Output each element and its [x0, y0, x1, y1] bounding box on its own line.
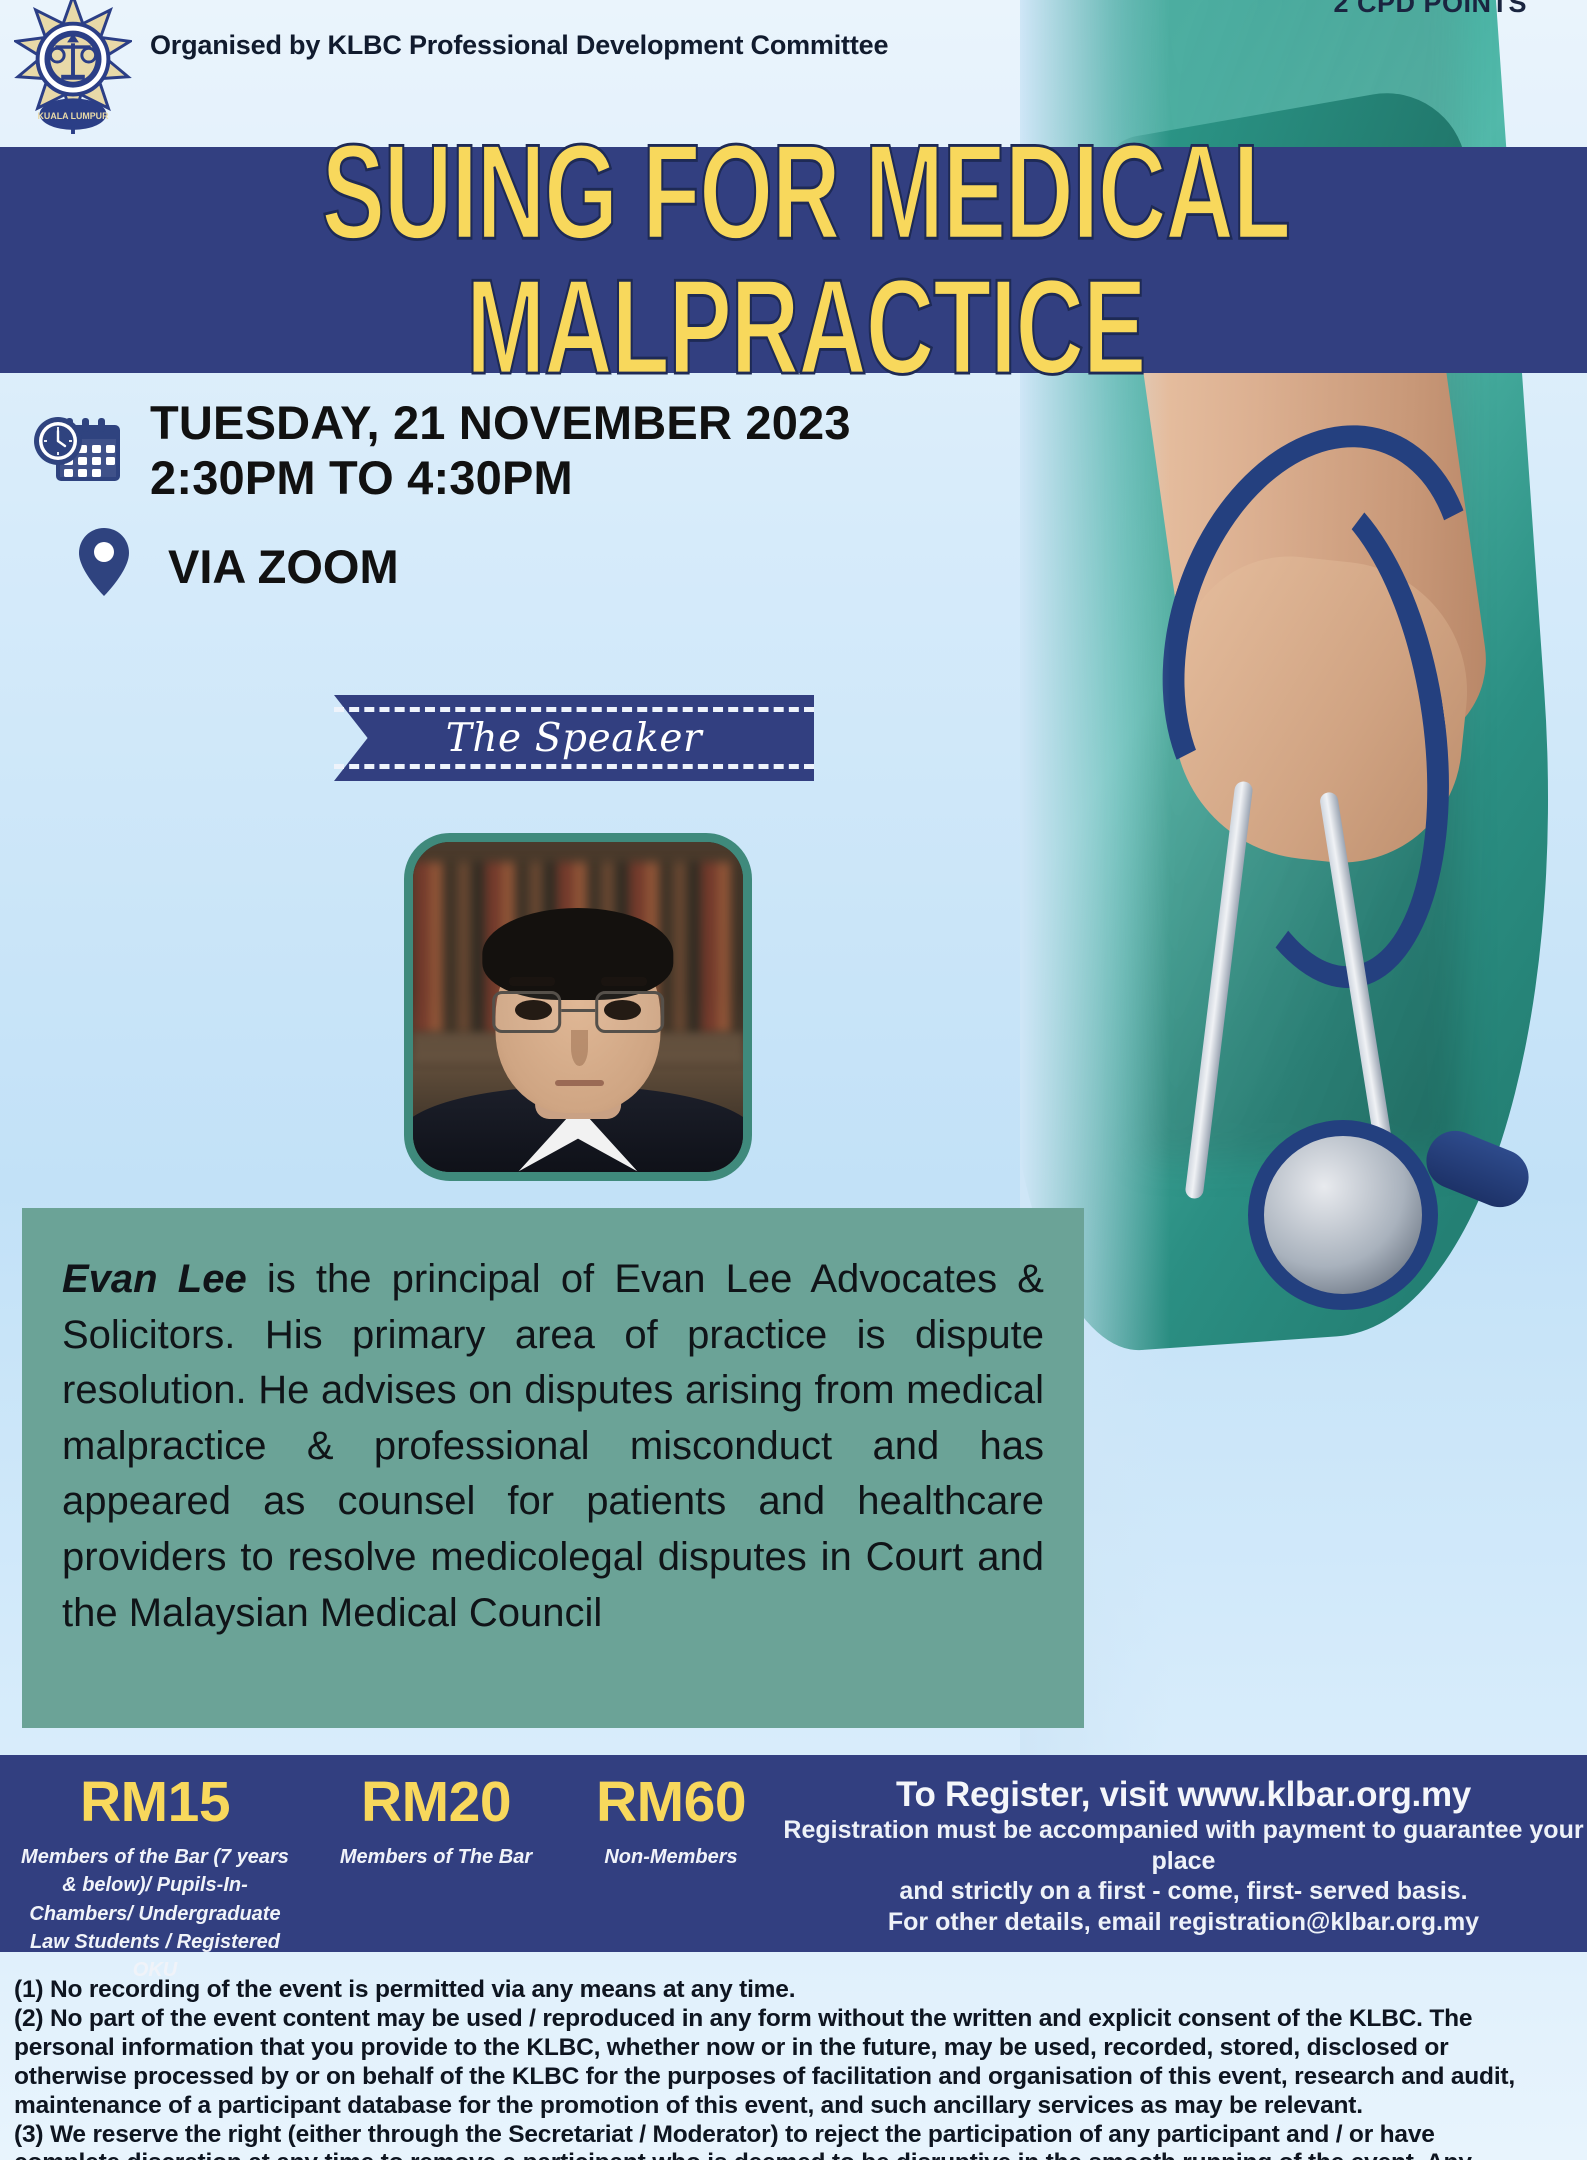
event-venue: VIA ZOOM [168, 539, 399, 594]
registration-email-line: For other details, email registration@kl… [780, 1907, 1587, 1938]
page-title: SUING FOR MEDICAL MALPRACTICE [0, 125, 1587, 395]
event-time: 2:30PM TO 4:30PM [150, 450, 851, 505]
registration-block: To Register, visit www.klbar.org.my Regi… [780, 1755, 1587, 1937]
price-tier-2: RM20 Members of The Bar [310, 1755, 562, 1871]
price-description: Non-Members [562, 1843, 780, 1871]
speaker-ribbon: The Speaker [334, 695, 814, 781]
price-amount: RM60 [562, 1773, 780, 1833]
price-amount: RM20 [310, 1773, 562, 1833]
venue-row: VIA ZOOM [0, 520, 1040, 598]
event-poster: KUALA LUMPUR Organised by KLBC Professio… [0, 0, 1587, 2160]
date-time-row: TUESDAY, 21 NOVEMBER 2023 2:30PM TO 4:30… [0, 395, 1040, 506]
disclaimer-item-2c: otherwise processed by or on behalf of t… [14, 2063, 1575, 2092]
price-tier-3: RM60 Non-Members [562, 1755, 780, 1871]
registration-link[interactable]: To Register, visit www.klbar.org.my [780, 1775, 1587, 1815]
stethoscope-chestpiece [1248, 1120, 1438, 1310]
organiser-label: Organised by KLBC Professional Developme… [150, 30, 888, 61]
disclaimer-item-2d: maintenance of a participant database fo… [14, 2092, 1575, 2121]
registration-note-1: Registration must be accompanied with pa… [780, 1815, 1587, 1876]
cpd-points-badge: 2 CPD POINTS [1333, 0, 1527, 19]
date-time-lines: TUESDAY, 21 NOVEMBER 2023 2:30PM TO 4:30… [150, 395, 851, 506]
location-pin-icon [78, 526, 130, 598]
registration-note-2: and strictly on a first - come, first- s… [780, 1876, 1587, 1907]
disclaimer-item-2b: personal information that you provide to… [14, 2034, 1575, 2063]
disclaimer-item-1: (1) No recording of the event is permitt… [14, 1976, 1575, 2005]
klbc-crest-icon: KUALA LUMPUR [14, 0, 132, 134]
calendar-clock-icon [30, 399, 126, 495]
speaker-hair [482, 908, 673, 1000]
speaker-photo [404, 833, 752, 1181]
glasses-bridge [561, 1009, 595, 1012]
disclaimer-item-3b: complete discretion at any time to remov… [14, 2149, 1575, 2160]
speaker-name: Evan Lee [62, 1257, 247, 1301]
speaker-eyebrow-right [601, 977, 647, 985]
price-amount: RM15 [0, 1773, 310, 1833]
speaker-mouth [555, 1080, 605, 1087]
svg-text:KUALA LUMPUR: KUALA LUMPUR [38, 111, 110, 121]
speaker-bio-box: Evan Lee is the principal of Evan Lee Ad… [22, 1208, 1084, 1728]
poster-header: KUALA LUMPUR Organised by KLBC Professio… [0, 0, 1587, 130]
title-banner: SUING FOR MEDICAL MALPRACTICE [0, 147, 1587, 373]
event-date: TUESDAY, 21 NOVEMBER 2023 [150, 395, 851, 450]
disclaimer-item-2a: (2) No part of the event content may be … [14, 2005, 1575, 2034]
speaker-eye-left [515, 1000, 551, 1020]
price-description: Members of The Bar [310, 1843, 562, 1871]
disclaimer-block: (1) No recording of the event is permitt… [0, 1962, 1587, 2160]
event-details: TUESDAY, 21 NOVEMBER 2023 2:30PM TO 4:30… [0, 395, 1040, 598]
speaker-nose [571, 1030, 588, 1066]
speaker-bio-body: is the principal of Evan Lee Advocates &… [62, 1257, 1044, 1635]
ribbon-label: The Speaker [334, 695, 814, 781]
speaker-bio-text: Evan Lee is the principal of Evan Lee Ad… [62, 1252, 1044, 1641]
price-tier-1: RM15 Members of the Bar (7 years & below… [0, 1755, 310, 1985]
speaker-eye-right [604, 1000, 640, 1020]
disclaimer-item-3a: (3) We reserve the right (either through… [14, 2121, 1575, 2150]
speaker-eyebrow-left [509, 977, 555, 985]
pricing-bar: RM15 Members of the Bar (7 years & below… [0, 1755, 1587, 1952]
